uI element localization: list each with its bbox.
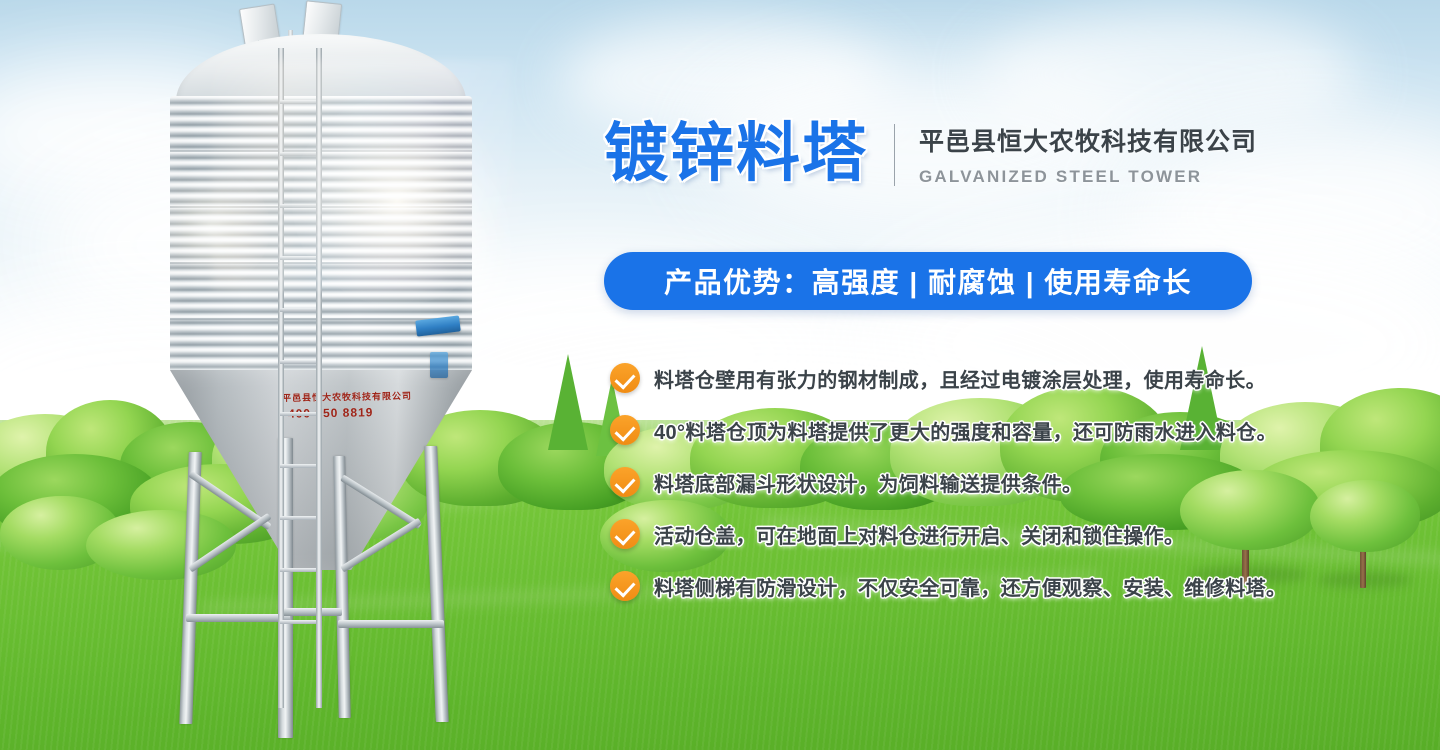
leg-crossbar [186, 614, 290, 622]
ladder-rung [280, 620, 316, 624]
title-row: 镀锌料塔 平邑县恒大农牧科技有限公司 GALVANIZED STEEL TOWE… [604, 118, 1257, 187]
advantage-badge-label: 产品优势：高强度 | 耐腐蚀 | 使用寿命长 [664, 261, 1192, 301]
feature-text: 料塔底部漏斗形状设计，为饲料输送提供条件。 [654, 468, 1082, 497]
blue-outlet-fitting [430, 352, 448, 378]
feature-text: 40°料塔仓顶为料塔提供了更大的强度和容量，还可防雨水进入料仓。 [654, 416, 1277, 445]
cross-brace [188, 513, 272, 572]
ladder-rung [280, 360, 316, 364]
ladder-rung [280, 568, 316, 572]
list-item: 活动仓盖，可在地面上对料仓进行开启、关闭和锁住操作。 [610, 508, 1310, 560]
feature-text: 料塔仓壁用有张力的钢材制成，且经过电镀涂层处理，使用寿命长。 [654, 364, 1266, 393]
feature-text: 活动仓盖，可在地面上对料仓进行开启、关闭和锁住操作。 [654, 520, 1184, 549]
banner-copy: 镀锌料塔 平邑县恒大农牧科技有限公司 GALVANIZED STEEL TOWE… [604, 0, 1304, 750]
list-item: 料塔仓壁用有张力的钢材制成，且经过电镀涂层处理，使用寿命长。 [610, 352, 1310, 404]
company-subtitle-en: GALVANIZED STEEL TOWER [919, 167, 1257, 187]
leg-crossbar [282, 608, 342, 616]
company-name: 平邑县恒大农牧科技有限公司 [919, 122, 1257, 158]
check-circle-icon [610, 415, 640, 445]
product-hero-banner: 平邑县恒大农牧科技有限公司 400 850 8819 [0, 0, 1440, 750]
list-item: 料塔侧梯有防滑设计，不仅安全可靠，还方便观察、安装、维修料塔。 [610, 560, 1310, 612]
page-title: 镀锌料塔 [604, 121, 868, 185]
ladder-rung [280, 100, 316, 104]
list-item: 料塔底部漏斗形状设计，为饲料输送提供条件。 [610, 456, 1310, 508]
feature-text: 料塔侧梯有防滑设计，不仅安全可靠，还方便观察、安装、维修料塔。 [654, 572, 1286, 601]
ladder-rail-left [278, 48, 284, 708]
check-circle-icon [610, 363, 640, 393]
feature-list: 料塔仓壁用有张力的钢材制成，且经过电镀涂层处理，使用寿命长。 40°料塔仓顶为料… [610, 352, 1310, 612]
list-item: 40°料塔仓顶为料塔提供了更大的强度和容量，还可防雨水进入料仓。 [610, 404, 1310, 456]
advantage-badge: 产品优势：高强度 | 耐腐蚀 | 使用寿命长 [604, 252, 1252, 310]
check-circle-icon [610, 467, 640, 497]
galvanized-silo-image: 平邑县恒大农牧科技有限公司 400 850 8819 [92, 0, 512, 750]
ladder-rung [280, 516, 316, 520]
ladder-rung [280, 464, 316, 468]
lawn-tree [1310, 480, 1420, 595]
support-leg [179, 452, 201, 724]
ladder-rung [280, 256, 316, 260]
company-block: 平邑县恒大农牧科技有限公司 GALVANIZED STEEL TOWER [919, 118, 1257, 187]
ladder-rung [280, 152, 316, 156]
ladder-rung [280, 308, 316, 312]
support-leg [424, 446, 449, 722]
check-circle-icon [610, 519, 640, 549]
check-circle-icon [610, 571, 640, 601]
leg-crossbar [338, 620, 444, 628]
ladder-rail-right [316, 48, 322, 708]
ladder-rung [280, 204, 316, 208]
title-divider [894, 124, 895, 186]
ladder-rung [280, 412, 316, 416]
